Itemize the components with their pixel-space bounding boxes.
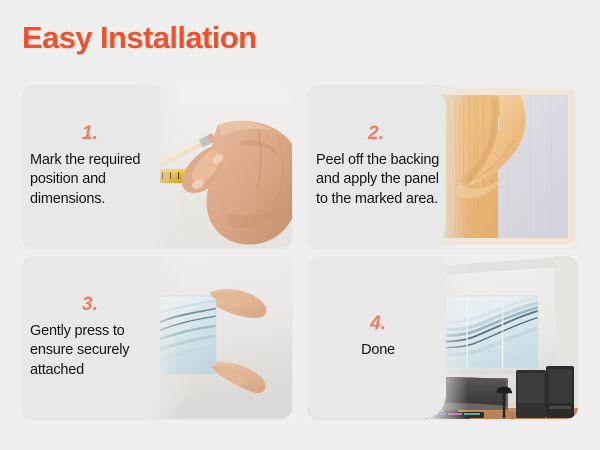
step-card-2: 2. Peel off the backing and apply the pa… [308,85,578,248]
step-card-3: 3. Gently press to ensure securely attac… [22,256,292,419]
step-4-text-panel: 4. Done [308,256,446,419]
step-1-number: 1. [82,124,154,143]
step-2-text-panel: 2. Peel off the backing and apply the pa… [308,85,446,248]
step-1-description: Mark the required position and dimension… [30,151,154,209]
step-3-description: Gently press to ensure securely attached [30,322,154,380]
step-2-description: Peel off the backing and apply the panel… [316,151,440,209]
step-card-4: 4. Done [308,256,578,419]
page-title: Easy Installation [22,22,256,53]
steps-grid: 1. Mark the required position and dimens… [22,85,578,419]
step-card-1: 1. Mark the required position and dimens… [22,85,292,248]
step-4-description: Done [361,341,395,360]
step-3-number: 3. [82,295,154,314]
step-4-number: 4. [370,314,386,333]
installation-infographic: Easy Installation [0,0,600,450]
step-1-text-panel: 1. Mark the required position and dimens… [22,85,160,248]
step-2-number: 2. [368,124,440,143]
step-3-text-panel: 3. Gently press to ensure securely attac… [22,256,160,419]
